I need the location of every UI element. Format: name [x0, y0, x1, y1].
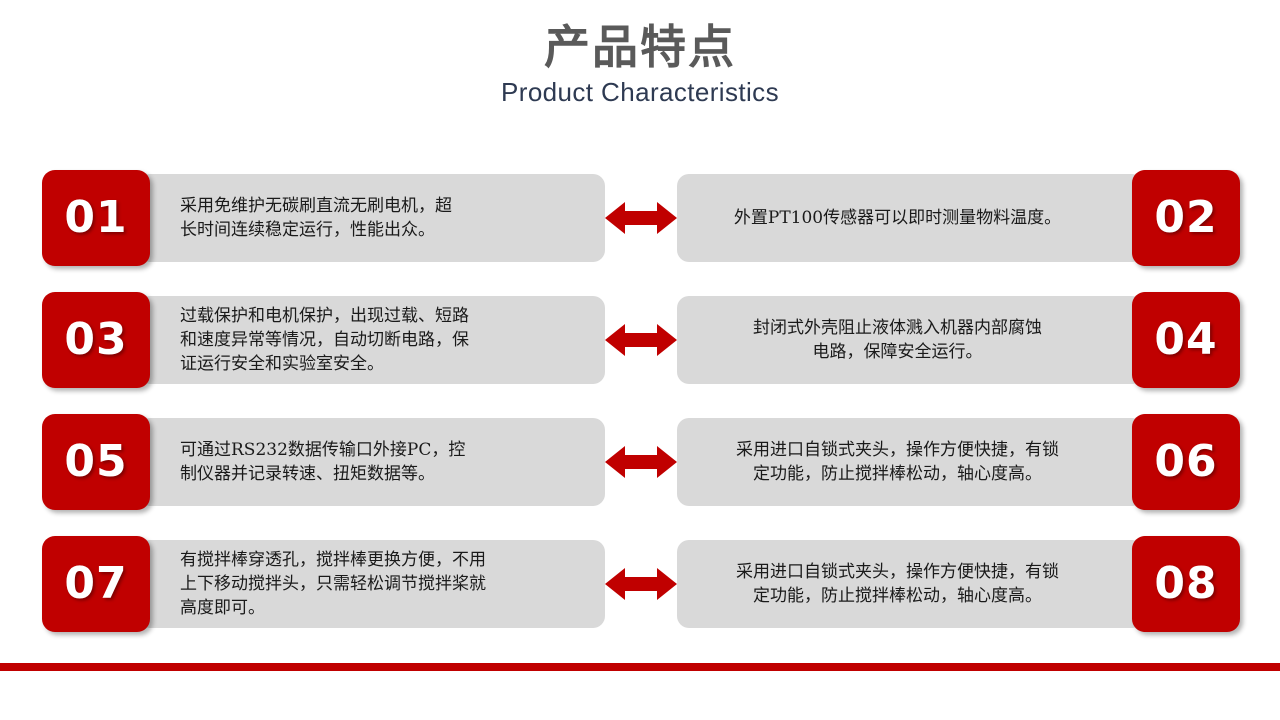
feature-card-05[interactable]: 可通过RS232数据传输口外接PC，控 制仪器并记录转速、扭矩数据等。 05 — [42, 414, 605, 510]
feature-text: 外置PT100传感器可以即时测量物料温度。 — [734, 206, 1061, 230]
feature-number: 02 — [1154, 196, 1217, 240]
feature-number-badge: 01 — [42, 170, 150, 266]
feature-card-01[interactable]: 采用免维护无碳刷直流无刷电机，超 长时间连续稳定运行，性能出众。 01 — [42, 170, 605, 266]
feature-card-07[interactable]: 有搅拌棒穿透孔，搅拌棒更换方便，不用 上下移动搅拌头，只需轻松调节搅拌桨就 高度… — [42, 536, 605, 632]
feature-text-panel: 有搅拌棒穿透孔，搅拌棒更换方便，不用 上下移动搅拌头，只需轻松调节搅拌桨就 高度… — [138, 540, 605, 628]
feature-text-panel: 外置PT100传感器可以即时测量物料温度。 — [677, 174, 1144, 262]
feature-card-08[interactable]: 采用进口自锁式夹头，操作方便快捷，有锁 定功能，防止搅拌棒松动，轴心度高。 08 — [677, 536, 1240, 632]
feature-number-badge: 08 — [1132, 536, 1240, 632]
double-arrow-icon — [605, 564, 677, 604]
feature-number-badge: 05 — [42, 414, 150, 510]
feature-text-panel: 采用进口自锁式夹头，操作方便快捷，有锁 定功能，防止搅拌棒松动，轴心度高。 — [677, 540, 1144, 628]
feature-text: 采用免维护无碳刷直流无刷电机，超 长时间连续稳定运行，性能出众。 — [180, 194, 452, 242]
footer-accent-bar — [0, 663, 1280, 671]
feature-card-03[interactable]: 过载保护和电机保护，出现过载、短路 和速度异常等情况，自动切断电路，保 证运行安… — [42, 292, 605, 388]
feature-card-06[interactable]: 采用进口自锁式夹头，操作方便快捷，有锁 定功能，防止搅拌棒松动，轴心度高。 06 — [677, 414, 1240, 510]
feature-row: 过载保护和电机保护，出现过载、短路 和速度异常等情况，自动切断电路，保 证运行安… — [0, 292, 1280, 388]
feature-number: 07 — [64, 562, 127, 606]
feature-text: 过载保护和电机保护，出现过载、短路 和速度异常等情况，自动切断电路，保 证运行安… — [180, 304, 469, 376]
feature-text: 采用进口自锁式夹头，操作方便快捷，有锁 定功能，防止搅拌棒松动，轴心度高。 — [736, 560, 1059, 608]
page-subtitle: Product Characteristics — [0, 78, 1280, 108]
feature-rows: 采用免维护无碳刷直流无刷电机，超 长时间连续稳定运行，性能出众。 01 外置PT… — [0, 170, 1280, 658]
feature-text-panel: 采用进口自锁式夹头，操作方便快捷，有锁 定功能，防止搅拌棒松动，轴心度高。 — [677, 418, 1144, 506]
feature-number-badge: 03 — [42, 292, 150, 388]
feature-text: 采用进口自锁式夹头，操作方便快捷，有锁 定功能，防止搅拌棒松动，轴心度高。 — [736, 438, 1059, 486]
feature-row: 可通过RS232数据传输口外接PC，控 制仪器并记录转速、扭矩数据等。 05 采… — [0, 414, 1280, 510]
feature-card-04[interactable]: 封闭式外壳阻止液体溅入机器内部腐蚀 电路，保障安全运行。 04 — [677, 292, 1240, 388]
feature-text-panel: 采用免维护无碳刷直流无刷电机，超 长时间连续稳定运行，性能出众。 — [138, 174, 605, 262]
feature-number: 03 — [64, 318, 127, 362]
feature-number: 05 — [64, 440, 127, 484]
feature-number: 06 — [1154, 440, 1217, 484]
feature-text-panel: 封闭式外壳阻止液体溅入机器内部腐蚀 电路，保障安全运行。 — [677, 296, 1144, 384]
feature-text-panel: 过载保护和电机保护，出现过载、短路 和速度异常等情况，自动切断电路，保 证运行安… — [138, 296, 605, 384]
feature-number-badge: 04 — [1132, 292, 1240, 388]
feature-row: 有搅拌棒穿透孔，搅拌棒更换方便，不用 上下移动搅拌头，只需轻松调节搅拌桨就 高度… — [0, 536, 1280, 632]
feature-number: 01 — [64, 196, 127, 240]
feature-text: 封闭式外壳阻止液体溅入机器内部腐蚀 电路，保障安全运行。 — [753, 316, 1042, 364]
feature-text: 有搅拌棒穿透孔，搅拌棒更换方便，不用 上下移动搅拌头，只需轻松调节搅拌桨就 高度… — [180, 548, 486, 620]
double-arrow-icon — [605, 442, 677, 482]
feature-number-badge: 02 — [1132, 170, 1240, 266]
double-arrow-icon — [605, 320, 677, 360]
feature-row: 采用免维护无碳刷直流无刷电机，超 长时间连续稳定运行，性能出众。 01 外置PT… — [0, 170, 1280, 266]
feature-text-panel: 可通过RS232数据传输口外接PC，控 制仪器并记录转速、扭矩数据等。 — [138, 418, 605, 506]
page-title: 产品特点 — [0, 22, 1280, 74]
feature-number: 08 — [1154, 562, 1217, 606]
feature-text: 可通过RS232数据传输口外接PC，控 制仪器并记录转速、扭矩数据等。 — [180, 438, 465, 486]
feature-number-badge: 06 — [1132, 414, 1240, 510]
double-arrow-icon — [605, 198, 677, 238]
feature-number: 04 — [1154, 318, 1217, 362]
page-header: 产品特点 Product Characteristics — [0, 0, 1280, 107]
feature-card-02[interactable]: 外置PT100传感器可以即时测量物料温度。 02 — [677, 170, 1240, 266]
feature-number-badge: 07 — [42, 536, 150, 632]
